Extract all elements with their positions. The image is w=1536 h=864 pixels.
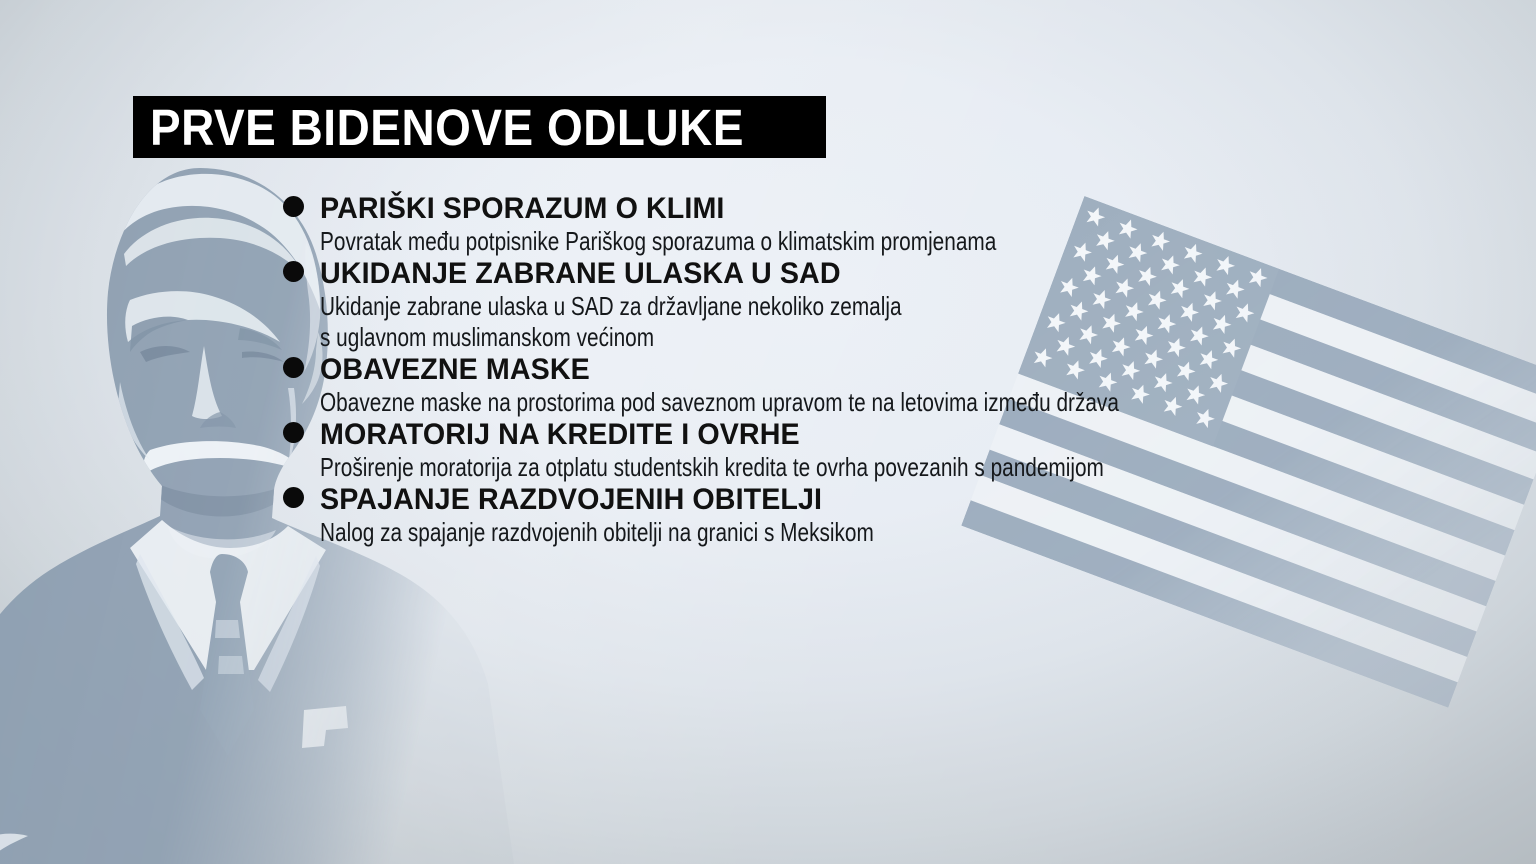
item-subtext: Povratak među potpisnike Pariškog sporaz… <box>320 226 1234 257</box>
page-title-bar: PRVE BIDENOVE ODLUKE <box>133 96 826 158</box>
page-title: PRVE BIDENOVE ODLUKE <box>150 102 744 153</box>
bullet-icon <box>283 261 304 282</box>
item-subline: s uglavnom muslimanskom većinom <box>320 322 1234 353</box>
bullet-icon <box>283 196 304 217</box>
item-subtext: Obavezne maske na prostorima pod savezno… <box>320 387 1234 418</box>
item-subtext: Proširenje moratorija za otplatu student… <box>320 452 1234 483</box>
list-item: PARIŠKI SPORAZUM O KLIMI Povratak među p… <box>283 192 1463 257</box>
list-item: OBAVEZNE MASKE Obavezne maske na prostor… <box>283 353 1463 418</box>
list-item: MORATORIJ NA KREDITE I OVRHE Proširenje … <box>283 418 1463 483</box>
item-heading: OBAVEZNE MASKE <box>320 353 1412 387</box>
item-subline: Nalog za spajanje razdvojenih obitelji n… <box>320 517 1234 548</box>
item-subline: Povratak među potpisnike Pariškog sporaz… <box>320 226 1234 257</box>
item-heading: MORATORIJ NA KREDITE I OVRHE <box>320 418 1412 452</box>
list-item: UKIDANJE ZABRANE ULASKA U SAD Ukidanje z… <box>283 257 1463 353</box>
item-heading: SPAJANJE RAZDVOJENIH OBITELJI <box>320 483 1412 517</box>
list-item: SPAJANJE RAZDVOJENIH OBITELJI Nalog za s… <box>283 483 1463 548</box>
item-subline: Obavezne maske na prostorima pod savezno… <box>320 387 1234 418</box>
broadcast-graphic: PRVE BIDENOVE ODLUKE PARIŠKI SPORAZUM O … <box>0 0 1536 864</box>
item-heading: PARIŠKI SPORAZUM O KLIMI <box>320 192 1412 226</box>
item-subtext: Nalog za spajanje razdvojenih obitelji n… <box>320 517 1234 548</box>
item-subline: Ukidanje zabrane ulaska u SAD za državlj… <box>320 291 1234 322</box>
bullet-icon <box>283 422 304 443</box>
item-subtext: Ukidanje zabrane ulaska u SAD za državlj… <box>320 291 1234 353</box>
decisions-list: PARIŠKI SPORAZUM O KLIMI Povratak među p… <box>283 192 1463 548</box>
item-subline: Proširenje moratorija za otplatu student… <box>320 452 1234 483</box>
item-heading: UKIDANJE ZABRANE ULASKA U SAD <box>320 257 1412 291</box>
bullet-icon <box>283 357 304 378</box>
bullet-icon <box>283 487 304 508</box>
